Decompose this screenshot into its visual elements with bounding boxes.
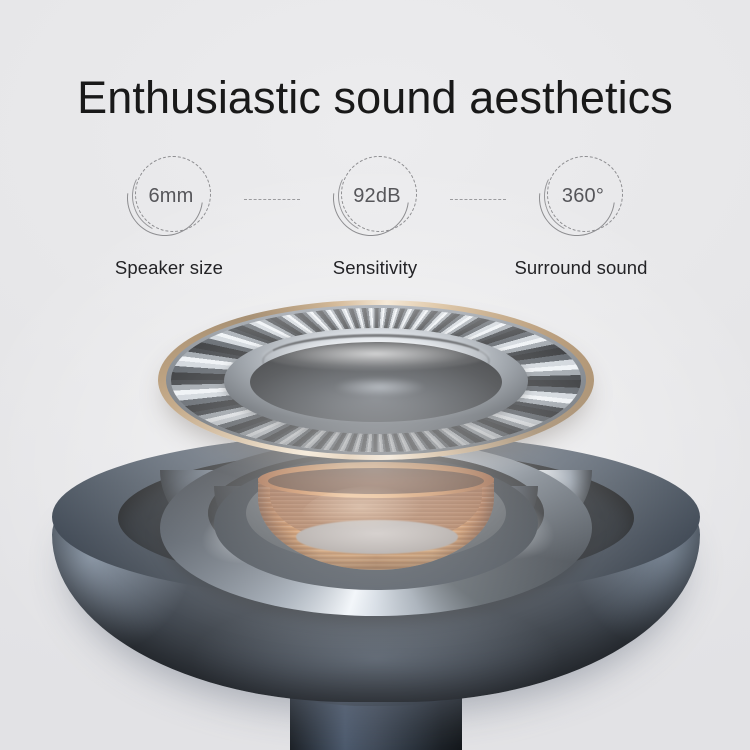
page-title: Enthusiastic sound aesthetics [0, 74, 750, 121]
spec-value: 92dB [353, 185, 401, 208]
spec-badge-ring-surround-sound: 360° [538, 155, 624, 241]
spec-badge-ring-sensitivity: 92dB [332, 155, 418, 241]
spec-label: Sensitivity [333, 257, 417, 279]
spec-connector-1 [244, 199, 300, 201]
spec-item-surround-sound: 360° Surround sound [506, 155, 656, 279]
spec-connector-2 [450, 199, 506, 201]
spec-badge-row: 6mm Speaker size 92dB Sensitivity 360° S… [0, 155, 750, 279]
spec-value: 360° [562, 185, 604, 208]
spec-value: 6mm [148, 185, 193, 208]
product-feature-image: Enthusiastic sound aesthetics 6mm Speake… [0, 0, 750, 750]
spec-item-sensitivity: 92dB Sensitivity [300, 155, 450, 279]
spec-label: Speaker size [115, 257, 223, 279]
spec-label: Surround sound [514, 257, 647, 279]
spec-item-speaker-size: 6mm Speaker size [94, 155, 244, 279]
spec-badge-ring-speaker-size: 6mm [126, 155, 212, 241]
